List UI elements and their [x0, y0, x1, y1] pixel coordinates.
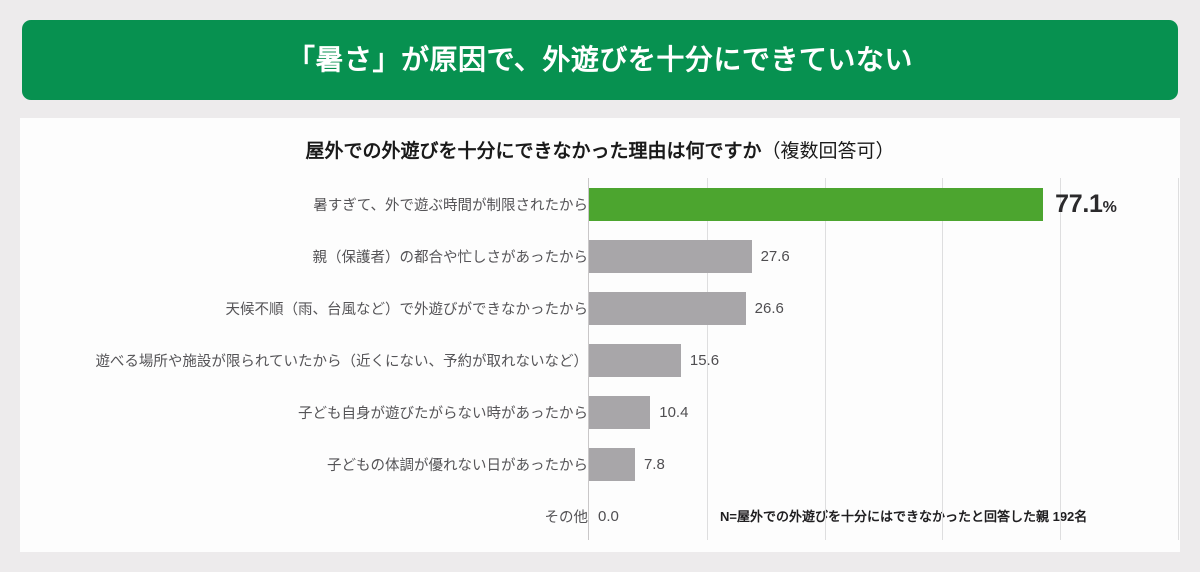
bar — [589, 188, 1043, 221]
value-label: 77.1% — [1055, 190, 1116, 219]
bar — [589, 292, 746, 325]
bar — [589, 240, 752, 273]
percent-sign: % — [1103, 199, 1117, 216]
bar-container: 0.0 — [589, 490, 619, 542]
value-label: 7.8 — [644, 456, 665, 473]
bar — [589, 396, 650, 429]
category-label: 親（保護者）の都合や忙しさがあったから — [313, 230, 589, 282]
bar-container: 26.6 — [589, 282, 784, 334]
value-label: 10.4 — [659, 404, 688, 421]
value-number: 77.1 — [1055, 190, 1102, 218]
bar — [589, 448, 635, 481]
chart-card: 屋外での外遊びを十分にできなかった理由は何ですか（複数回答可） N=屋外での外遊… — [20, 118, 1180, 552]
category-label: 天候不順（雨、台風など）で外遊びができなかったから — [226, 282, 589, 334]
bar-row: 子どもの体調が優れない日があったから7.8 — [20, 438, 1180, 490]
bar-container: 10.4 — [589, 386, 688, 438]
header-banner: 「暑さ」が原因で、外遊びを十分にできていない — [22, 20, 1178, 100]
value-label: 26.6 — [755, 300, 784, 317]
bar-chart-plot: N=屋外での外遊びを十分にはできなかったと回答した親 192名 暑すぎて、外で遊… — [20, 118, 1180, 552]
value-label: 27.6 — [761, 248, 790, 265]
bar-container: 15.6 — [589, 334, 719, 386]
bar-container: 27.6 — [589, 230, 790, 282]
category-label: 遊べる場所や施設が限られていたから（近くにない、予約が取れないなど） — [95, 334, 588, 386]
bar-row: 暑すぎて、外で遊ぶ時間が制限されたから77.1% — [20, 178, 1180, 230]
bar — [589, 344, 681, 377]
value-label: 0.0 — [598, 508, 619, 525]
bar-container: 77.1% — [589, 178, 1117, 230]
bar-container: 7.8 — [589, 438, 665, 490]
bar-row: 子ども自身が遊びたがらない時があったから10.4 — [20, 386, 1180, 438]
bar-row: 天候不順（雨、台風など）で外遊びができなかったから26.6 — [20, 282, 1180, 334]
category-label: 子ども自身が遊びたがらない時があったから — [298, 386, 588, 438]
bar-row: 遊べる場所や施設が限られていたから（近くにない、予約が取れないなど）15.6 — [20, 334, 1180, 386]
value-label: 15.6 — [690, 352, 719, 369]
category-label: その他 — [545, 490, 589, 542]
bar-row: 親（保護者）の都合や忙しさがあったから27.6 — [20, 230, 1180, 282]
category-label: 暑すぎて、外で遊ぶ時間が制限されたから — [313, 178, 588, 230]
page-root: 「暑さ」が原因で、外遊びを十分にできていない 屋外での外遊びを十分にできなかった… — [0, 0, 1200, 572]
category-label: 子どもの体調が優れない日があったから — [327, 438, 588, 490]
bar-row: その他0.0 — [20, 490, 1180, 542]
banner-title: 「暑さ」が原因で、外遊びを十分にできていない — [287, 43, 913, 77]
